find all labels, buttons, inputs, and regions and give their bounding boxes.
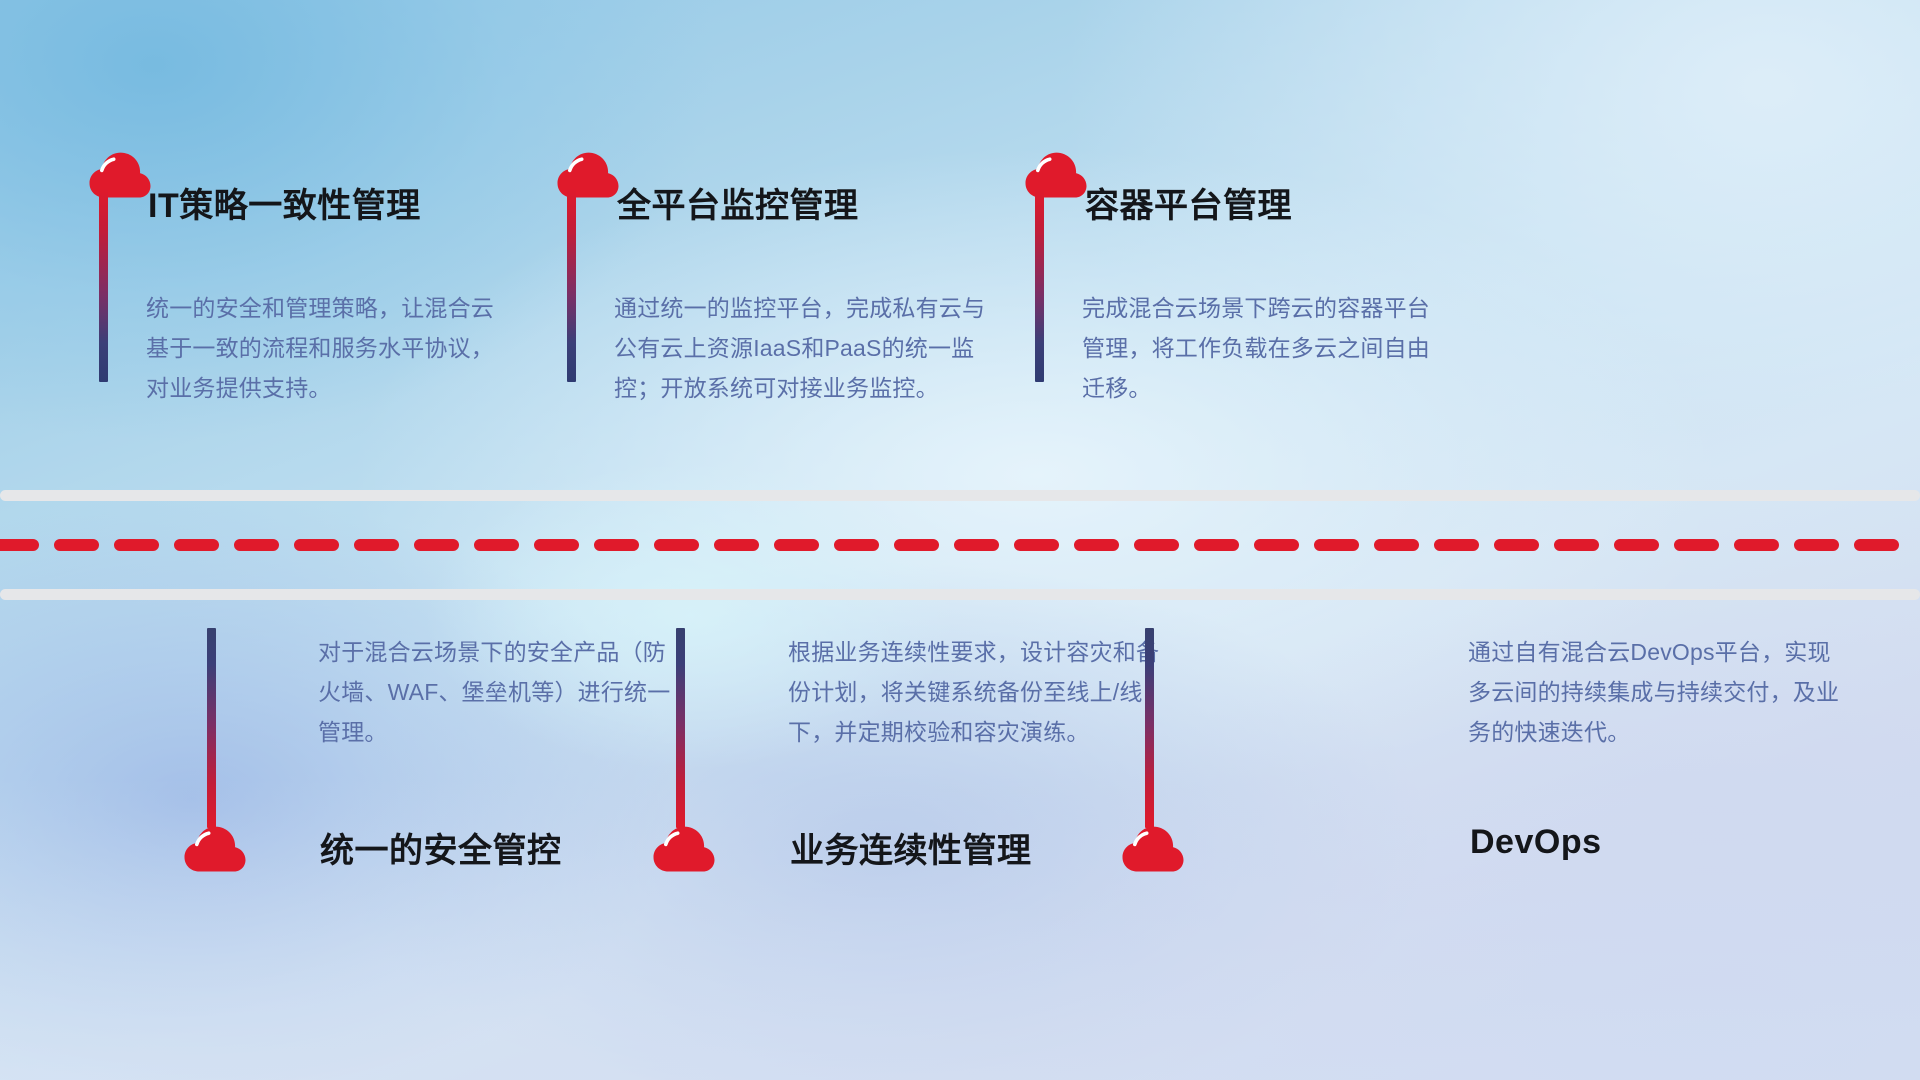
cloud-icon	[184, 826, 246, 872]
capability-title: 统一的安全管控	[320, 823, 562, 872]
divider-rule-bottom	[0, 589, 1920, 600]
cloud-icon	[653, 826, 715, 872]
capability-description: 统一的安全和管理策略，让混合云基于一致的流程和服务水平协议，对业务提供支持。	[146, 288, 504, 408]
capability-title: 容器平台管理	[1085, 178, 1292, 227]
capability-title: 业务连续性管理	[790, 823, 1032, 872]
capability-description: 通过统一的监控平台，完成私有云与公有云上资源IaaS和PaaS的统一监控；开放系…	[614, 288, 994, 408]
divider-band	[0, 490, 1920, 600]
divider-rule-top	[0, 490, 1920, 501]
connector-stem	[207, 628, 216, 828]
capability-description: 对于混合云场景下的安全产品（防火墙、WAF、堡垒机等）进行统一管理。	[318, 632, 688, 752]
capability-description: 根据业务连续性要求，设计容灾和备份计划，将关键系统备份至线上/线下，并定期校验和…	[788, 632, 1162, 752]
connector-stem	[1035, 188, 1044, 382]
cloud-icon	[1122, 826, 1184, 872]
connector-stem	[1145, 628, 1154, 828]
capability-title: 全平台监控管理	[617, 178, 859, 227]
capability-description: 完成混合云场景下跨云的容器平台管理，将工作负载在多云之间自由迁移。	[1082, 288, 1452, 408]
connector-stem	[676, 628, 685, 828]
connector-stem	[99, 188, 108, 382]
capability-title: IT策略一致性管理	[148, 178, 421, 227]
divider-dashed-line	[0, 539, 1920, 551]
connector-stem	[567, 188, 576, 382]
capability-title: DevOps	[1470, 823, 1602, 862]
capability-description: 通过自有混合云DevOps平台，实现多云间的持续集成与持续交付，及业务的快速迭代…	[1468, 632, 1840, 752]
